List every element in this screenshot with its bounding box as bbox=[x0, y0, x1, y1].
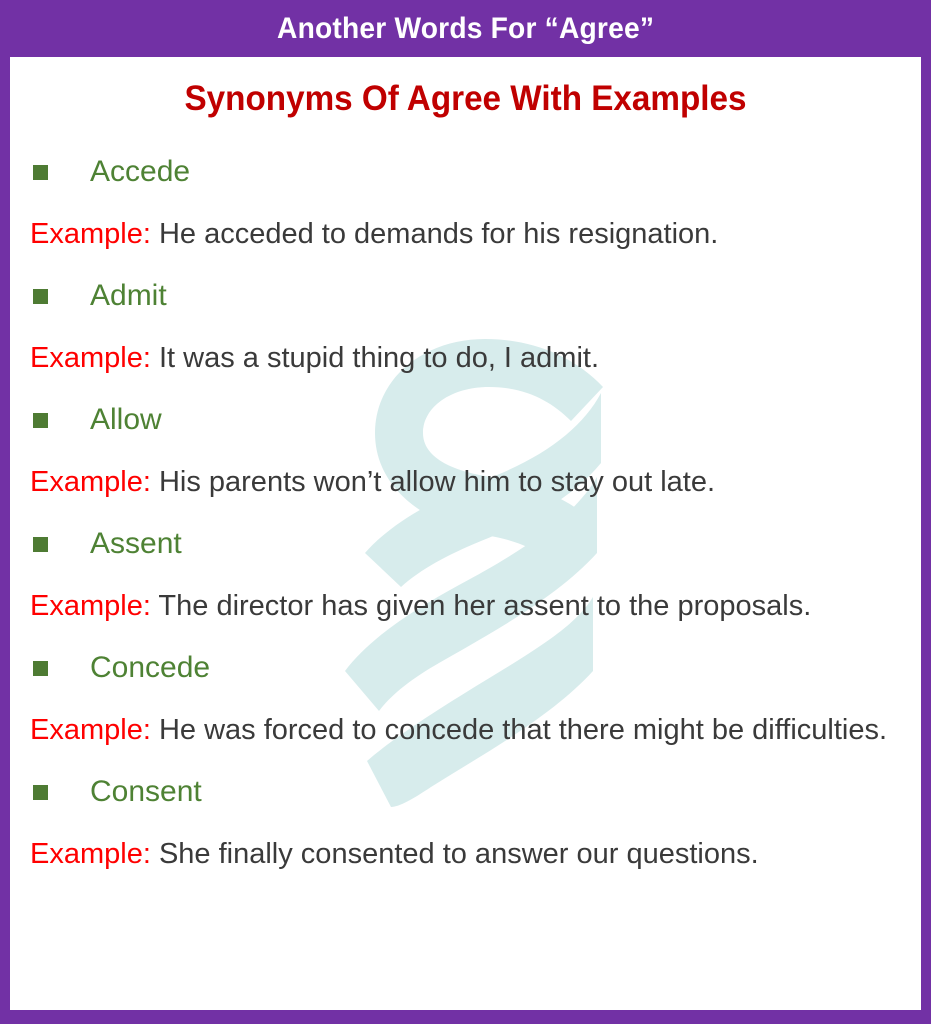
synonym-entry: Consent Example: She finally consented t… bbox=[10, 761, 921, 885]
word-row: Assent bbox=[10, 513, 921, 575]
word-row: Admit bbox=[10, 265, 921, 327]
synonym-word: Consent bbox=[90, 777, 202, 807]
example-row: Example: He was forced to concede that t… bbox=[10, 699, 921, 761]
synonyms-poster: Another Words For “Agree” Synonyms Of Ag… bbox=[0, 0, 931, 1024]
synonym-word: Admit bbox=[90, 281, 167, 311]
word-row: Concede bbox=[10, 637, 921, 699]
word-row: Accede bbox=[10, 141, 921, 203]
example-row: Example: The director has given her asse… bbox=[10, 575, 921, 637]
example-sentence: His parents won’t allow him to stay out … bbox=[159, 466, 715, 498]
word-row: Consent bbox=[10, 761, 921, 823]
header-band: Another Words For “Agree” bbox=[0, 0, 931, 57]
synonym-entry: Assent Example: The director has given h… bbox=[10, 513, 921, 637]
square-bullet-icon bbox=[33, 413, 48, 428]
example-row: Example: He acceded to demands for his r… bbox=[10, 203, 921, 265]
example-sentence: He was forced to concede that there migh… bbox=[159, 714, 887, 746]
synonym-entry-list: Accede Example: He acceded to demands fo… bbox=[10, 141, 921, 885]
synonym-entry: Admit Example: It was a stupid thing to … bbox=[10, 265, 921, 389]
word-row: Allow bbox=[10, 389, 921, 451]
content-card: Synonyms Of Agree With Examples Accede E… bbox=[10, 57, 921, 1010]
synonym-entry: Allow Example: His parents won’t allow h… bbox=[10, 389, 921, 513]
square-bullet-icon bbox=[33, 785, 48, 800]
example-label: Example: bbox=[30, 218, 159, 250]
synonym-word: Concede bbox=[90, 653, 210, 683]
example-label: Example: bbox=[30, 466, 159, 498]
frame-border-bottom bbox=[0, 1010, 931, 1024]
synonym-word: Accede bbox=[90, 157, 190, 187]
example-sentence: He acceded to demands for his resignatio… bbox=[159, 218, 718, 250]
square-bullet-icon bbox=[33, 289, 48, 304]
frame-border-right bbox=[921, 0, 931, 1024]
frame-border-left bbox=[0, 0, 10, 1024]
square-bullet-icon bbox=[33, 165, 48, 180]
doc-heading: Synonyms Of Agree With Examples bbox=[33, 79, 898, 119]
example-row: Example: It was a stupid thing to do, I … bbox=[10, 327, 921, 389]
square-bullet-icon bbox=[33, 537, 48, 552]
synonym-entry: Concede Example: He was forced to conced… bbox=[10, 637, 921, 761]
square-bullet-icon bbox=[33, 661, 48, 676]
example-sentence: The director has given her assent to the… bbox=[158, 590, 811, 622]
example-label: Example: bbox=[30, 590, 158, 622]
example-sentence: It was a stupid thing to do, I admit. bbox=[159, 342, 599, 374]
example-label: Example: bbox=[30, 342, 159, 374]
example-label: Example: bbox=[30, 838, 159, 870]
example-sentence: She finally consented to answer our ques… bbox=[159, 838, 759, 870]
example-row: Example: She finally consented to answer… bbox=[10, 823, 921, 885]
example-row: Example: His parents won’t allow him to … bbox=[10, 451, 921, 513]
example-label: Example: bbox=[30, 714, 159, 746]
synonym-word: Assent bbox=[90, 529, 182, 559]
page-title: Another Words For “Agree” bbox=[277, 12, 654, 46]
synonym-word: Allow bbox=[90, 405, 162, 435]
synonym-entry: Accede Example: He acceded to demands fo… bbox=[10, 141, 921, 265]
